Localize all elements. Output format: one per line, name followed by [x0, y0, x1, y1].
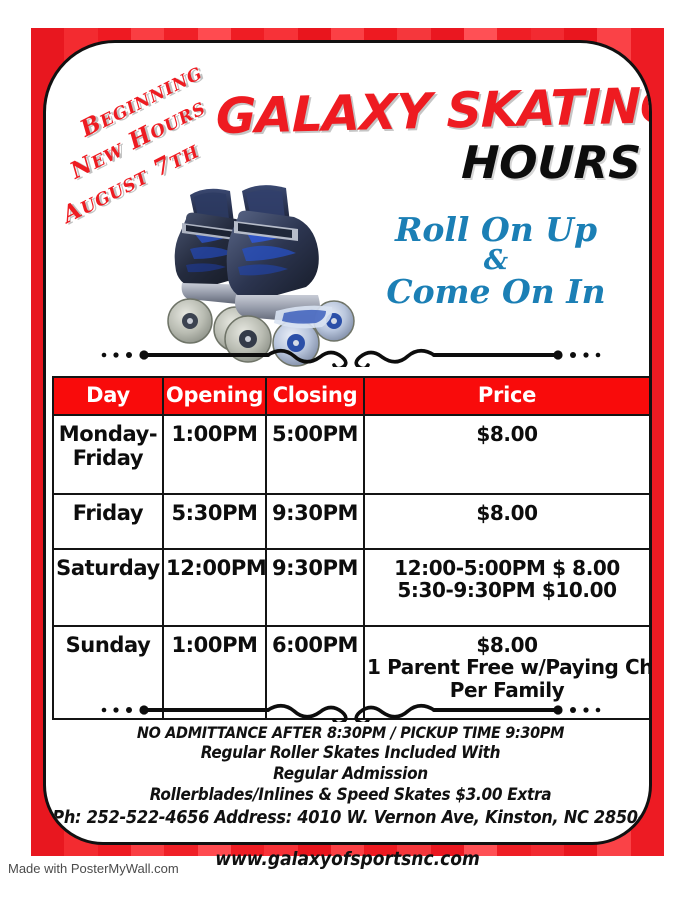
- table-header-row: Day Opening Closing Price: [53, 377, 650, 415]
- fine-print-contact: Ph: 252-522-4656 Address: 4010 W. Vernon…: [50, 807, 651, 829]
- fine-print-admittance: NO ADMITTANCE AFTER 8:30PM / PICKUP TIME…: [50, 723, 651, 743]
- flourish-divider-top-icon: [96, 343, 606, 367]
- cell-opening: 1:00PM: [163, 415, 266, 494]
- table-row: Saturday 12:00PM 9:30PM 12:00-5:00PM $ 8…: [53, 549, 650, 626]
- cell-closing: 5:00PM: [266, 415, 364, 494]
- title-galaxy-skating: GALAXY SKATING: [216, 82, 642, 142]
- cell-day: Monday- Friday: [53, 415, 163, 494]
- poster-card: BEGINNING NEW HOURS AUGUST 7TH GALAXY SK…: [43, 40, 652, 845]
- cell-price: 12:00-5:00PM $ 8.00 5:30-9:30PM $10.00: [364, 549, 650, 626]
- column-header-price: Price: [364, 377, 650, 415]
- column-header-opening: Opening: [163, 377, 266, 415]
- column-header-day: Day: [53, 377, 163, 415]
- tagline-line-come-on-in: Come On In: [346, 275, 646, 309]
- fine-print-block: NO ADMITTANCE AFTER 8:30PM / PICKUP TIME…: [50, 723, 651, 829]
- cell-price: $8.00: [364, 415, 650, 494]
- column-header-closing: Closing: [266, 377, 364, 415]
- table-row: Monday- Friday 1:00PM 5:00PM $8.00: [53, 415, 650, 494]
- tagline-ampersand: &: [346, 247, 646, 275]
- flourish-divider-bottom-icon: [96, 698, 606, 722]
- cell-opening: 12:00PM: [163, 549, 266, 626]
- cell-closing: 9:30PM: [266, 549, 364, 626]
- handwritten-line-beginning: BEGINNING: [76, 58, 207, 142]
- fine-print-skates-incl: Regular Roller Skates Included With: [50, 743, 651, 764]
- cell-day: Friday: [53, 494, 163, 549]
- cell-price: $8.00: [364, 494, 650, 549]
- tagline-script: Roll On Up & Come On In: [346, 213, 646, 310]
- schedule-table: Day Opening Closing Price Monday- Friday…: [52, 376, 651, 720]
- poster-canvas: BEGINNING NEW HOURS AUGUST 7TH GALAXY SK…: [0, 0, 695, 900]
- postermywall-watermark: Made with PosterMyWall.com: [8, 861, 179, 876]
- cell-day: Saturday: [53, 549, 163, 626]
- table-row: Friday 5:30PM 9:30PM $8.00: [53, 494, 650, 549]
- cell-closing: 9:30PM: [266, 494, 364, 549]
- tagline-line-roll-on-up: Roll On Up: [346, 213, 646, 247]
- fine-print-extra-fee: Rollerblades/Inlines & Speed Skates $3.0…: [50, 785, 651, 806]
- cell-opening: 5:30PM: [163, 494, 266, 549]
- fine-print-admission: Regular Admission: [50, 764, 651, 785]
